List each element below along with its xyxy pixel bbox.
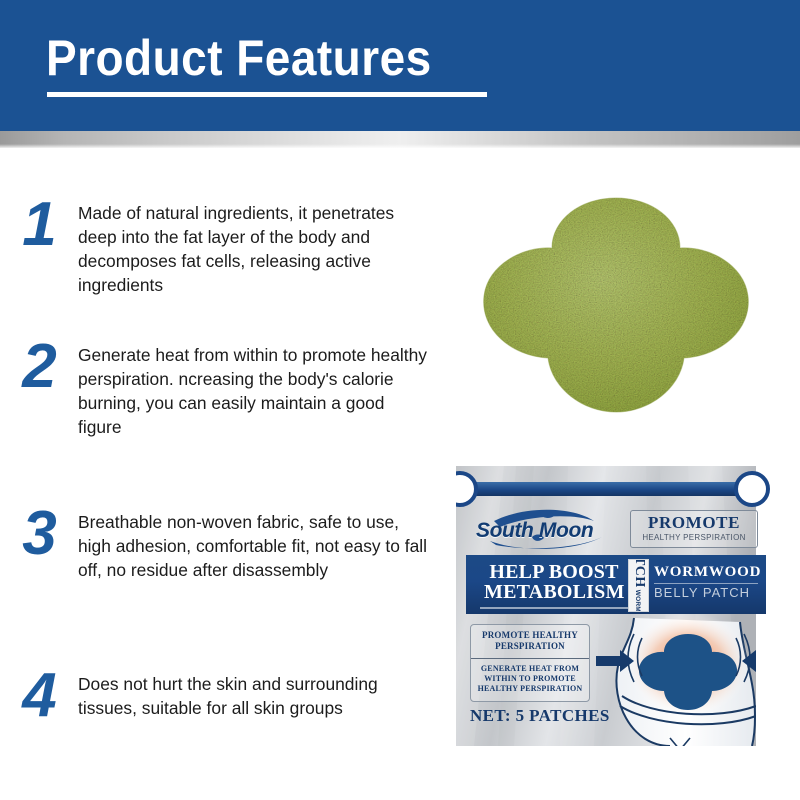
product-name-line-2: BELLY PATCH bbox=[654, 586, 764, 601]
benefit-box-group: PROMOTE HEALTHY PERSPIRATION GENERATE HE… bbox=[470, 624, 590, 702]
benefit-box-primary-text: PROMOTE HEALTHY PERSPIRATION bbox=[474, 630, 586, 653]
headline-rule bbox=[480, 607, 630, 609]
page-title: Product Features bbox=[46, 33, 432, 83]
feature-text: Generate heat from within to promote hea… bbox=[78, 338, 440, 439]
feature-number: 4 bbox=[0, 667, 78, 724]
silver-divider-band bbox=[0, 131, 800, 148]
net-contents-label: NET: 5 PATCHES bbox=[470, 706, 610, 726]
promote-badge: PROMOTE HEALTHY PERSPIRATION bbox=[630, 510, 758, 548]
title-underline bbox=[47, 92, 487, 97]
product-photo-package: South Moon PROMOTE HEALTHY PERSPIRATION … bbox=[456, 452, 774, 746]
product-photo-green-patch bbox=[452, 186, 780, 432]
feature-item: 3 Breathable non-woven fabric, safe to u… bbox=[0, 505, 440, 583]
feature-number: 3 bbox=[0, 505, 78, 562]
wormwood-patch-vertical-badge: PATCH WORMWOOD bbox=[628, 559, 649, 612]
feature-number: 2 bbox=[0, 338, 78, 395]
quatrefoil-patch-icon bbox=[452, 186, 780, 432]
headline-block: HELP BOOST METABOLISM bbox=[484, 562, 624, 603]
product-name-rule bbox=[654, 583, 758, 584]
product-name-line-1: WORMWOOD bbox=[654, 564, 764, 581]
vertical-badge-small: WORMWOOD bbox=[634, 589, 641, 612]
benefit-box-secondary: GENERATE HEAT FROM WITHIN TO PROMOTE HEA… bbox=[471, 659, 589, 701]
benefit-box-secondary-text: GENERATE HEAT FROM WITHIN TO PROMOTE HEA… bbox=[474, 664, 586, 695]
benefit-box-primary: PROMOTE HEALTHY PERSPIRATION bbox=[471, 625, 589, 659]
south-moon-logo: South Moon bbox=[470, 507, 618, 551]
headline-line-2: METABOLISM bbox=[484, 582, 624, 602]
promote-badge-sub: HEALTHY PERSPIRATION bbox=[633, 533, 755, 543]
feature-text: Made of natural ingredients, it penetrat… bbox=[78, 196, 440, 297]
feature-item: 2 Generate heat from within to promote h… bbox=[0, 338, 440, 439]
brand-name: South Moon bbox=[476, 519, 593, 543]
brand-row: South Moon PROMOTE HEALTHY PERSPIRATION bbox=[470, 506, 760, 552]
promote-badge-main: PROMOTE bbox=[633, 514, 755, 531]
feature-number: 1 bbox=[0, 196, 78, 253]
feature-text: Breathable non-woven fabric, safe to use… bbox=[78, 505, 440, 583]
vertical-badge-large: PATCH bbox=[631, 559, 647, 587]
feature-text: Does not hurt the skin and surrounding t… bbox=[78, 667, 440, 721]
feature-item: 4 Does not hurt the skin and surrounding… bbox=[0, 667, 440, 724]
package-text-layer: South Moon PROMOTE HEALTHY PERSPIRATION … bbox=[456, 452, 774, 746]
headline-banner: HELP BOOST METABOLISM PATCH WORMWOOD WOR… bbox=[466, 555, 766, 614]
product-name-block: WORMWOOD BELLY PATCH bbox=[654, 564, 764, 601]
headline-line-1: HELP BOOST bbox=[484, 562, 624, 582]
feature-item: 1 Made of natural ingredients, it penetr… bbox=[0, 196, 440, 297]
